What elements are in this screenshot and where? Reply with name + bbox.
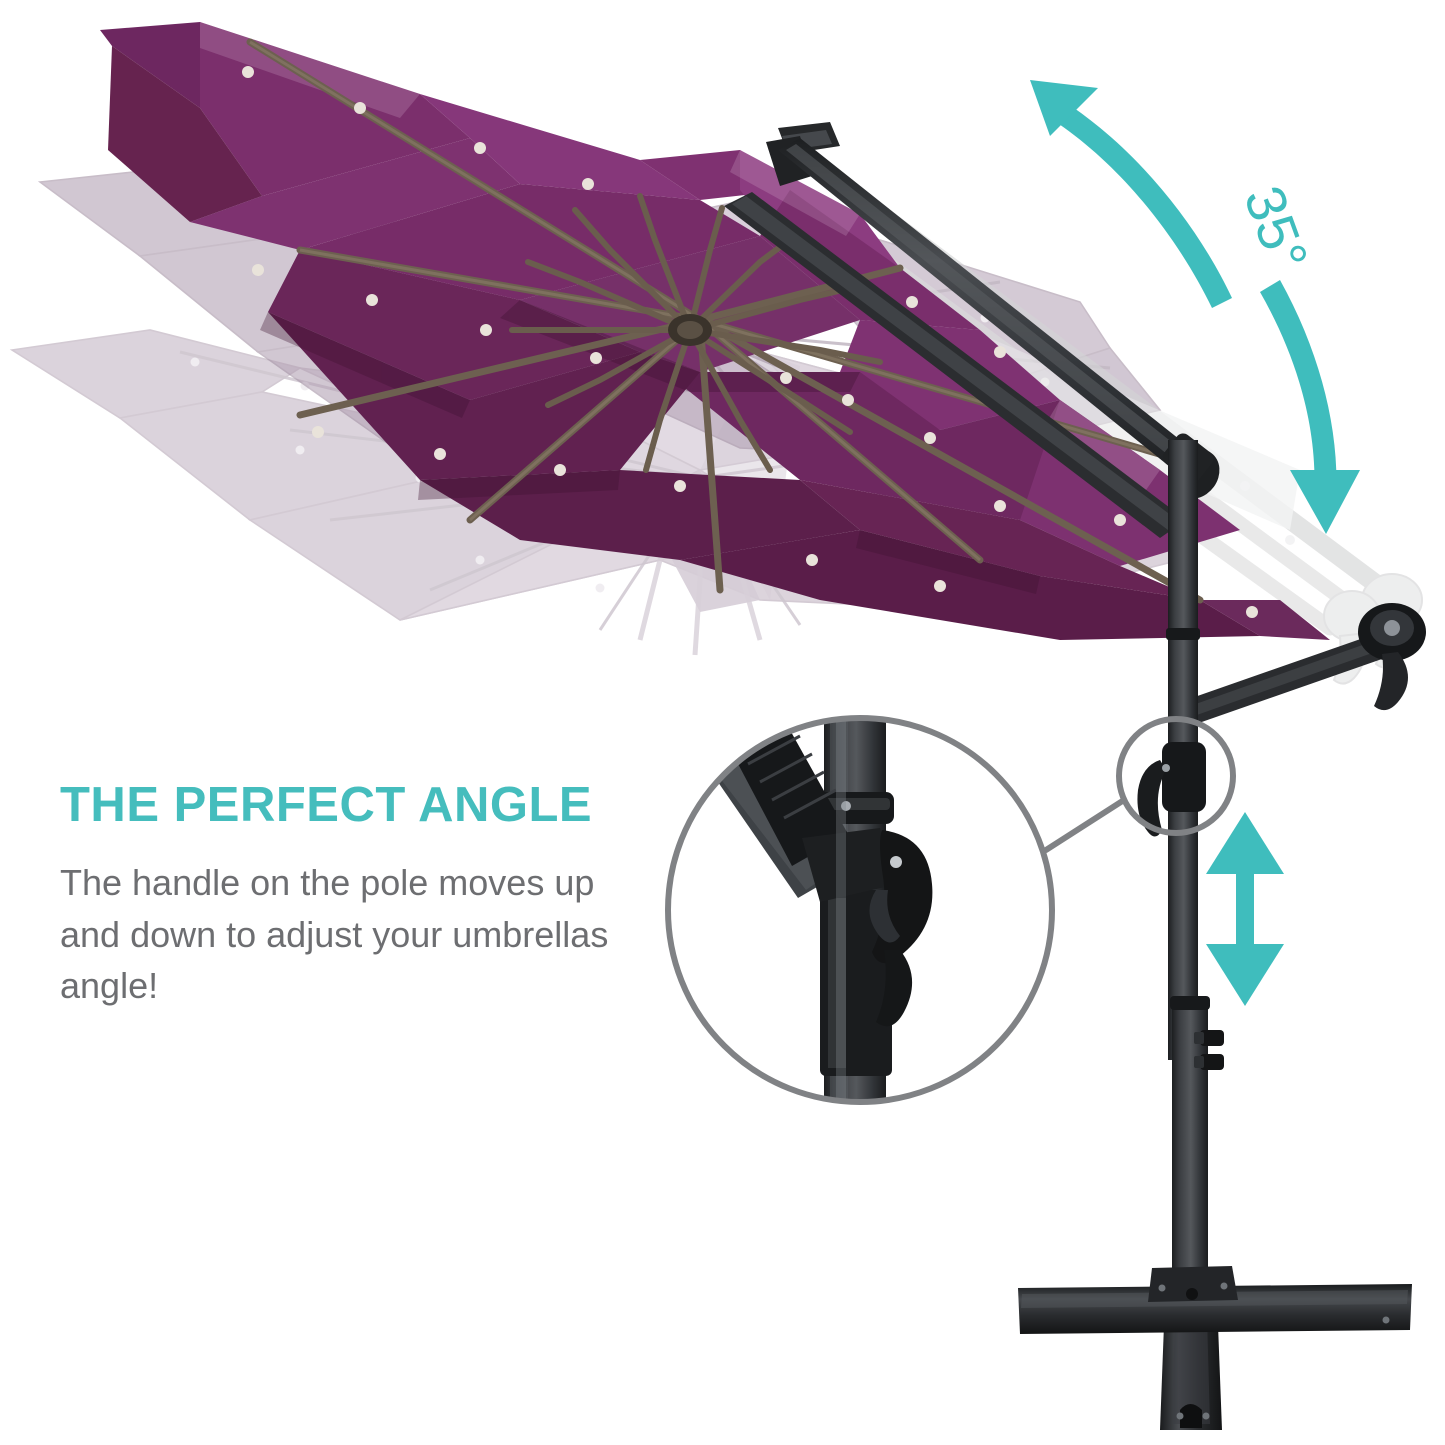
callout-connector-line — [1046, 800, 1124, 850]
body-copy: The handle on the pole moves up and down… — [60, 857, 620, 1010]
handle-travel-double-arrow — [1206, 812, 1284, 1006]
tilt-angle-text: 35° — [1232, 178, 1320, 279]
product-illustration: 35° — [0, 0, 1445, 1445]
tilt-angle-label: 35° — [1232, 178, 1320, 279]
copy-block: THE PERFECT ANGLE The handle on the pole… — [60, 780, 660, 1011]
page-title: THE PERFECT ANGLE — [60, 780, 660, 831]
canopy-hub — [668, 314, 712, 346]
handle-detail-magnifier — [660, 700, 1060, 1120]
canopy-active — [100, 22, 1330, 640]
infographic-canvas: 35° THE PERFECT ANGLE The handle on the … — [0, 0, 1445, 1445]
cross-base — [1018, 1266, 1412, 1430]
